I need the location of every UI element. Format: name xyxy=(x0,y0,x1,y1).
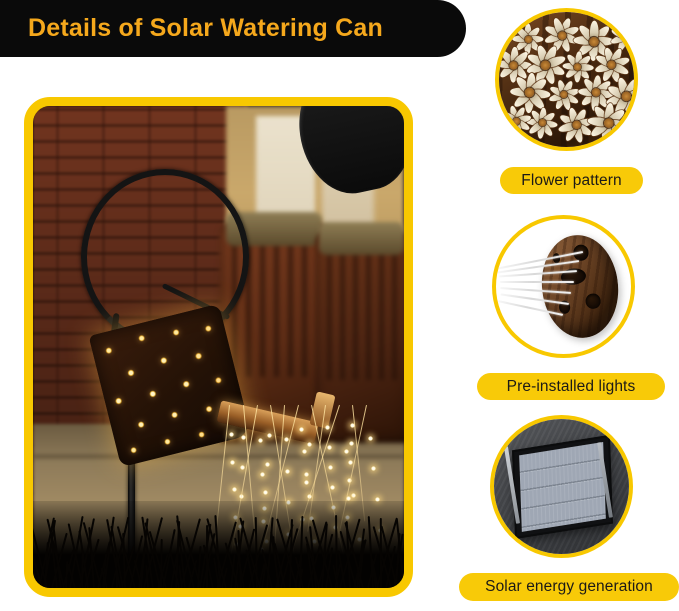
spout-end-cap xyxy=(537,232,623,342)
fairy-light-bulb xyxy=(267,433,272,438)
fairy-light-bulb xyxy=(368,436,373,441)
fairy-light-bulb xyxy=(328,465,333,470)
label-pre-installed-lights: Pre-installed lights xyxy=(477,373,665,400)
fairy-light-bulb xyxy=(302,449,307,454)
fairy-light-bulb xyxy=(371,466,376,471)
fairy-light-bulb xyxy=(304,480,309,485)
fairy-light-bulb xyxy=(351,493,356,498)
fairy-light-bulb xyxy=(348,460,353,465)
fairy-light-bulb xyxy=(299,427,304,432)
grass-blade xyxy=(33,569,35,588)
fairy-light-bulb xyxy=(349,441,354,446)
fairy-light-bulb xyxy=(330,485,335,490)
fairy-light-bulb xyxy=(265,462,270,467)
fairy-light-bulb xyxy=(327,445,332,450)
label-solar-energy-generation: Solar energy generation xyxy=(459,573,679,601)
garden-grass-silhouette xyxy=(33,501,404,588)
photovoltaic-cells xyxy=(519,443,606,532)
chair-right-top-rail xyxy=(319,222,404,256)
fairy-light-bulb xyxy=(263,490,268,495)
fairy-light-bulb xyxy=(344,449,349,454)
fairy-light-bulb xyxy=(230,460,235,465)
led-wire xyxy=(500,281,575,283)
solar-watering-can-hero-photo xyxy=(33,106,404,588)
page-title: Details of Solar Watering Can xyxy=(28,14,383,43)
solar-panel-photo xyxy=(490,415,633,558)
solar-panel xyxy=(512,435,612,539)
fairy-light-bulb xyxy=(241,435,246,440)
fairy-light-bulb xyxy=(307,442,312,447)
grass-blade xyxy=(277,518,298,588)
fairy-light-bulb xyxy=(285,469,290,474)
fairy-light-bulb xyxy=(304,472,309,477)
fairy-light-bulb xyxy=(240,465,245,470)
fairy-light-bulb xyxy=(232,487,237,492)
fairy-light-bulb xyxy=(260,472,265,477)
infographic-stage: Details of Solar Watering Can xyxy=(0,0,679,611)
cap-hole xyxy=(585,293,601,310)
fairy-light-bulb xyxy=(325,425,330,430)
hero-photo-frame xyxy=(24,97,413,597)
title-banner: Details of Solar Watering Can xyxy=(0,0,466,57)
pre-installed-lights-photo xyxy=(492,215,635,358)
flower-pattern-photo xyxy=(495,8,638,151)
fairy-light-bulb xyxy=(229,432,234,437)
label-flower-pattern: Flower pattern xyxy=(500,167,643,194)
fairy-light-bulb xyxy=(258,438,263,443)
chair-slats xyxy=(327,248,400,380)
